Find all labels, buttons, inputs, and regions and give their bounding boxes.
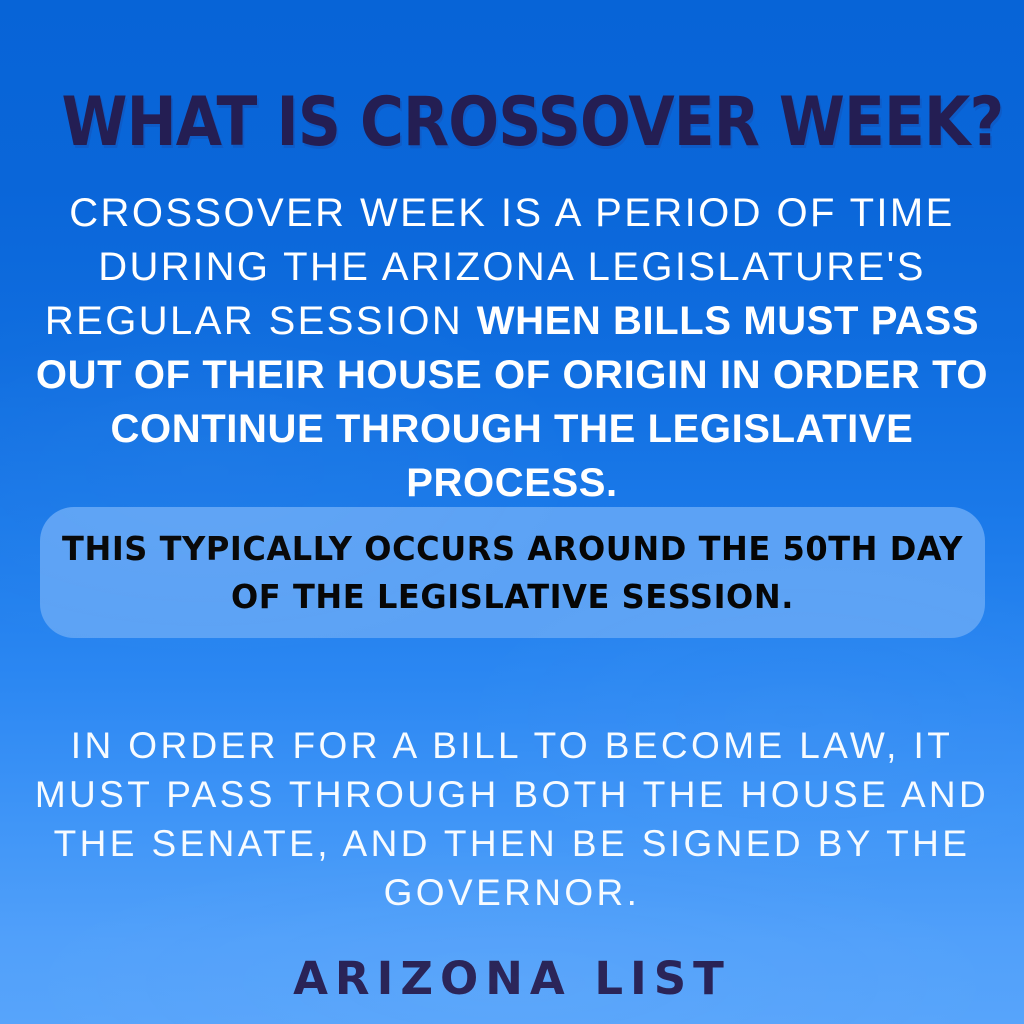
poster-canvas: WHAT IS CROSSOVER WEEK? CROSSOVER WEEK I… [0, 0, 1024, 1024]
highlight-callout-box: THIS TYPICALLY OCCURS AROUND THE 50TH DA… [40, 507, 985, 638]
brand-wordmark: ARIZONA LIST [0, 952, 1024, 1006]
intro-paragraph: CROSSOVER WEEK IS A PERIOD OF TIME DURIN… [18, 186, 1006, 510]
page-title: WHAT IS CROSSOVER WEEK? [61, 90, 962, 156]
highlight-callout-text: THIS TYPICALLY OCCURS AROUND THE 50TH DA… [54, 525, 971, 621]
closing-paragraph: IN ORDER FOR A BILL TO BECOME LAW, IT MU… [18, 721, 1006, 917]
